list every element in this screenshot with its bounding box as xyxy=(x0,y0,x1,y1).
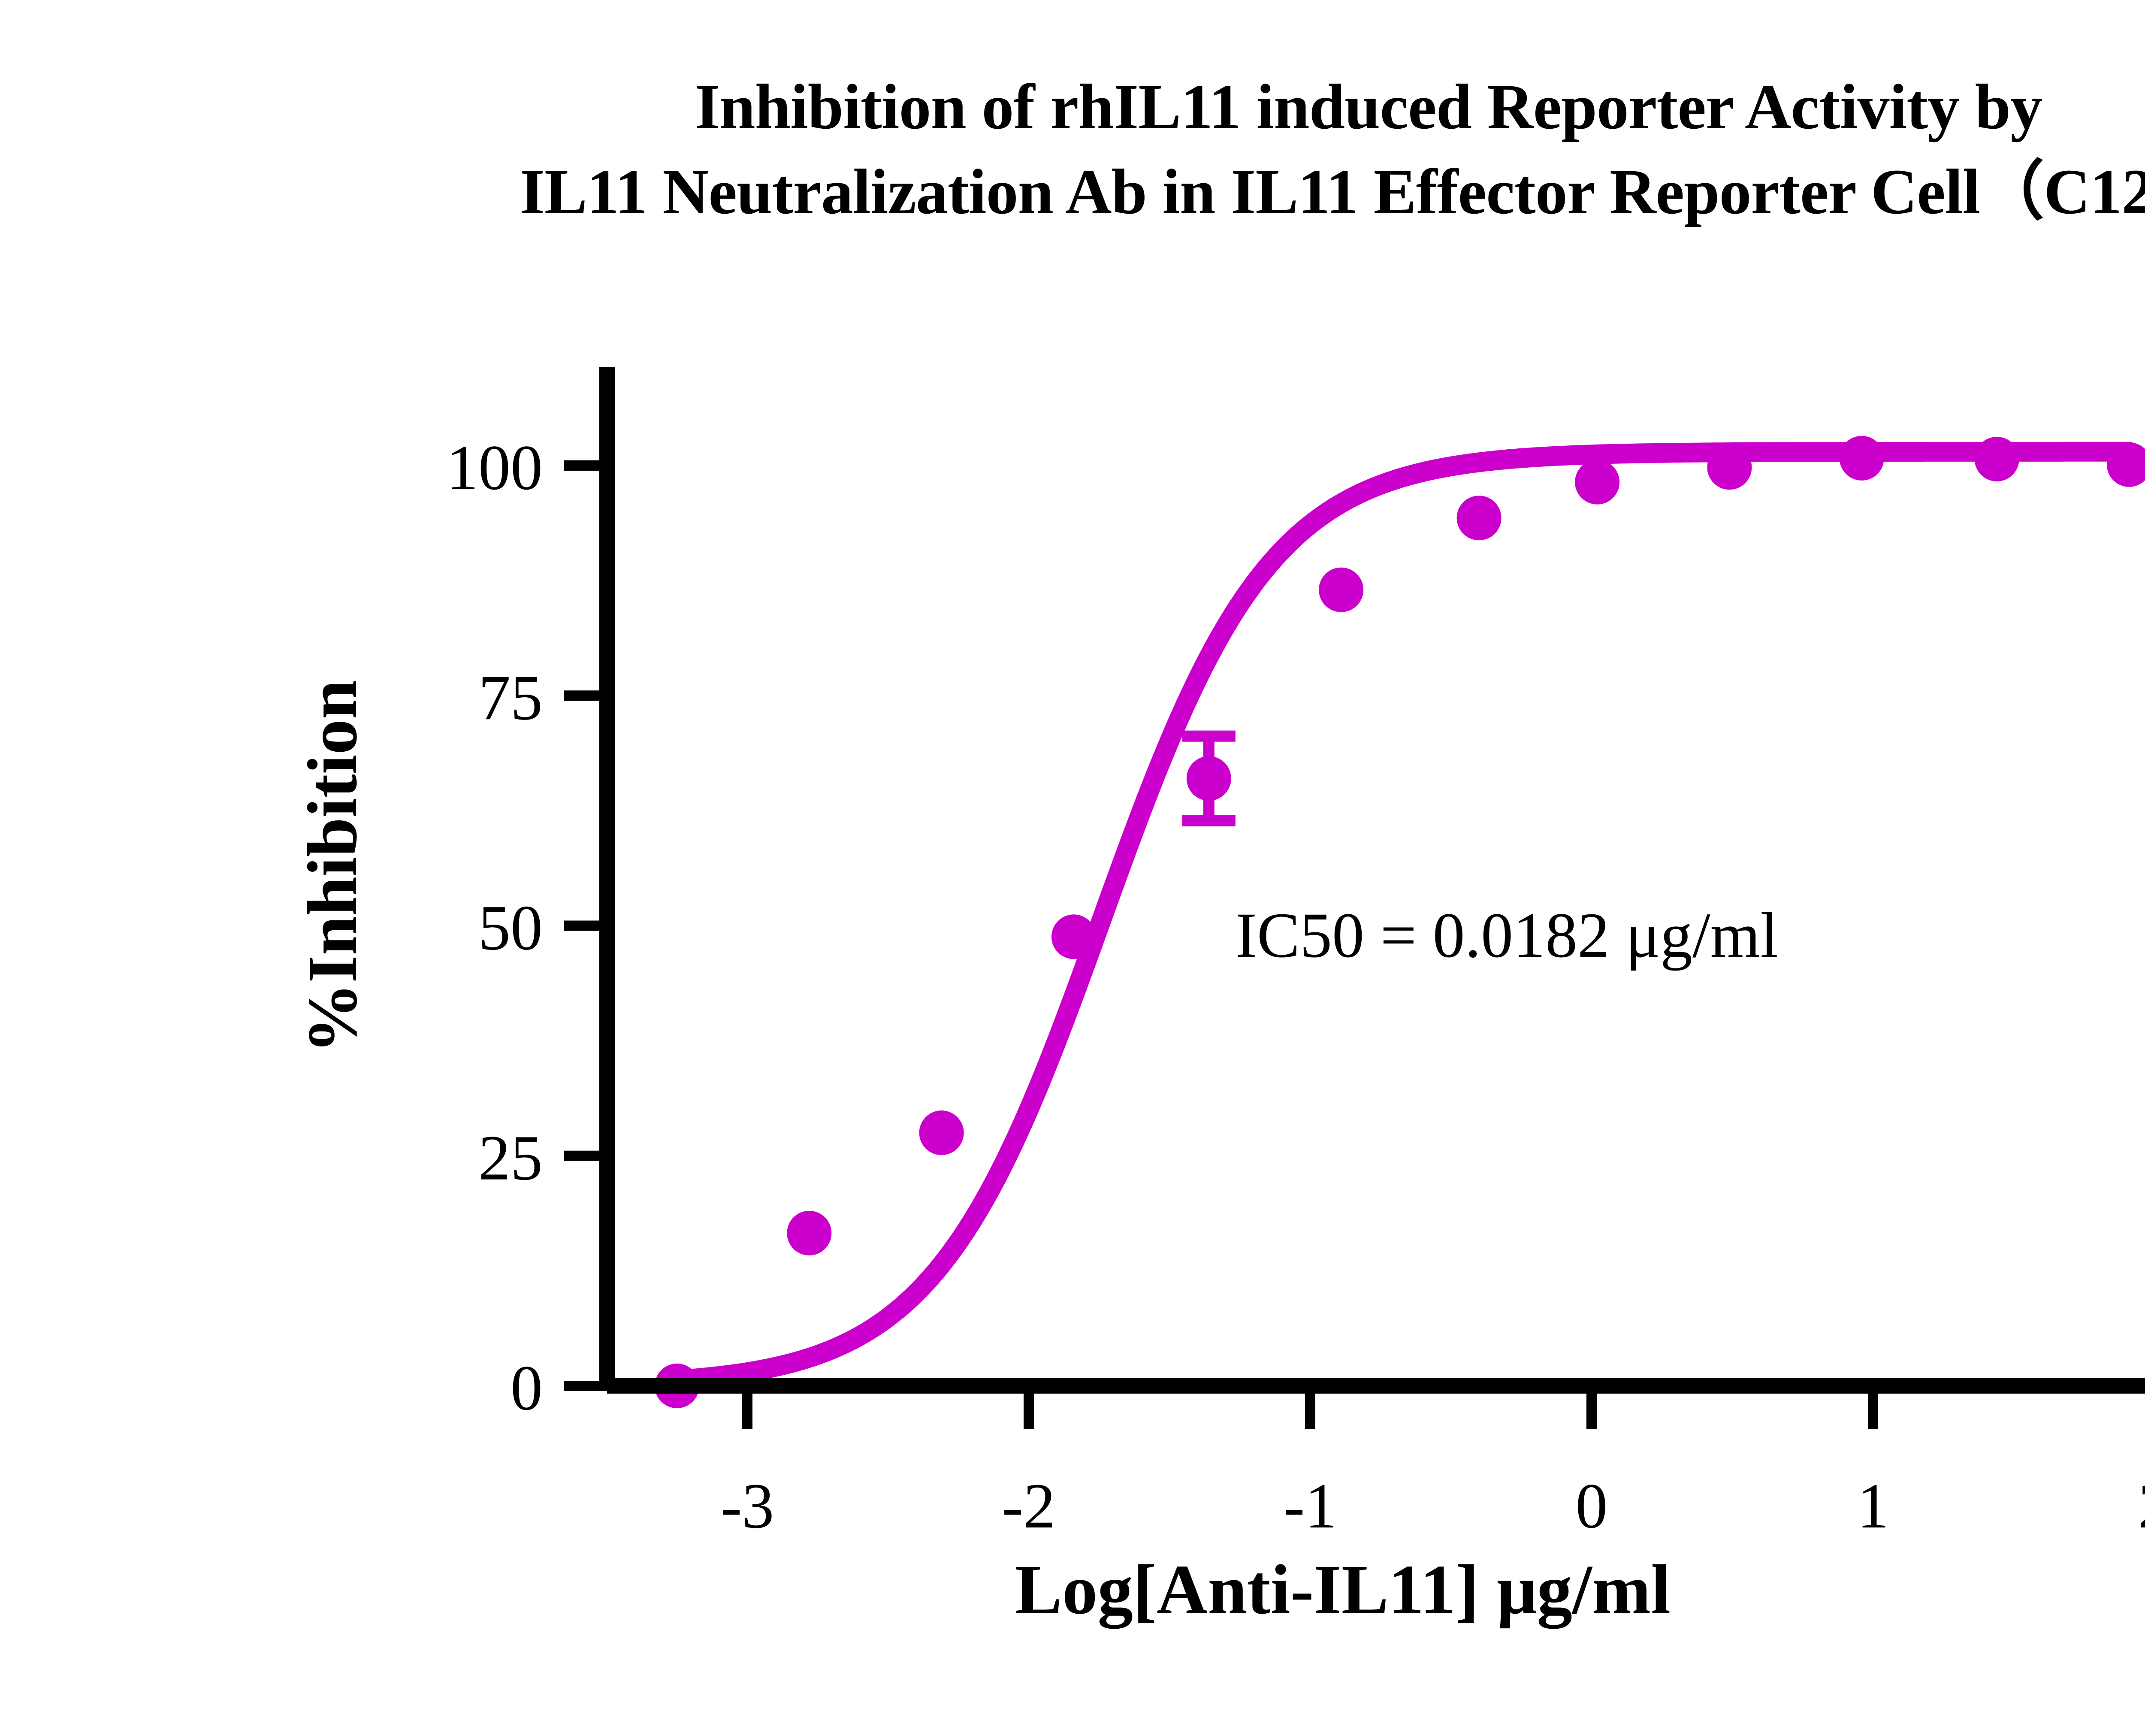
data-point-10 xyxy=(1975,437,2019,481)
x-tick-label-5: 2 xyxy=(2139,1470,2145,1542)
y-tick-label-0: 0 xyxy=(511,1352,543,1424)
data-point-2 xyxy=(919,1110,964,1155)
ic50-annotation: IC50 = 0.0182 μg/ml xyxy=(1236,900,1778,971)
x-tick-label-0: -3 xyxy=(721,1470,774,1542)
data-point-6 xyxy=(1457,496,1501,540)
plot-area: -3-2-10120255075100 IC50 = 0.0182 μg/ml … xyxy=(0,0,2145,1736)
data-point-9 xyxy=(1840,436,1884,481)
data-point-7 xyxy=(1575,460,1619,505)
axes-layer xyxy=(564,367,2145,1429)
x-tick-label-4: 1 xyxy=(1857,1470,1889,1542)
x-tick-label-1: -2 xyxy=(1002,1470,1056,1542)
data-point-3 xyxy=(1051,914,1096,959)
y-axis-title: %Inhibition xyxy=(293,680,372,1053)
x-tick-label-3: 0 xyxy=(1576,1470,1608,1542)
data-point-4 xyxy=(1187,756,1231,801)
data-point-5 xyxy=(1319,568,1363,612)
y-tick-label-2: 50 xyxy=(478,892,543,964)
data-point-1 xyxy=(787,1211,831,1255)
y-tick-label-1: 25 xyxy=(478,1122,543,1194)
chart-figure: Inhibition of rhIL11 induced Reporter Ac… xyxy=(0,0,2145,1736)
y-tick-label-4: 100 xyxy=(446,432,543,503)
data-point-8 xyxy=(1707,445,1752,490)
x-axis-title: Log[Anti-IL11] μg/ml xyxy=(1015,1550,1671,1629)
x-tick-label-2: -1 xyxy=(1284,1470,1337,1542)
y-tick-label-3: 75 xyxy=(478,662,543,733)
